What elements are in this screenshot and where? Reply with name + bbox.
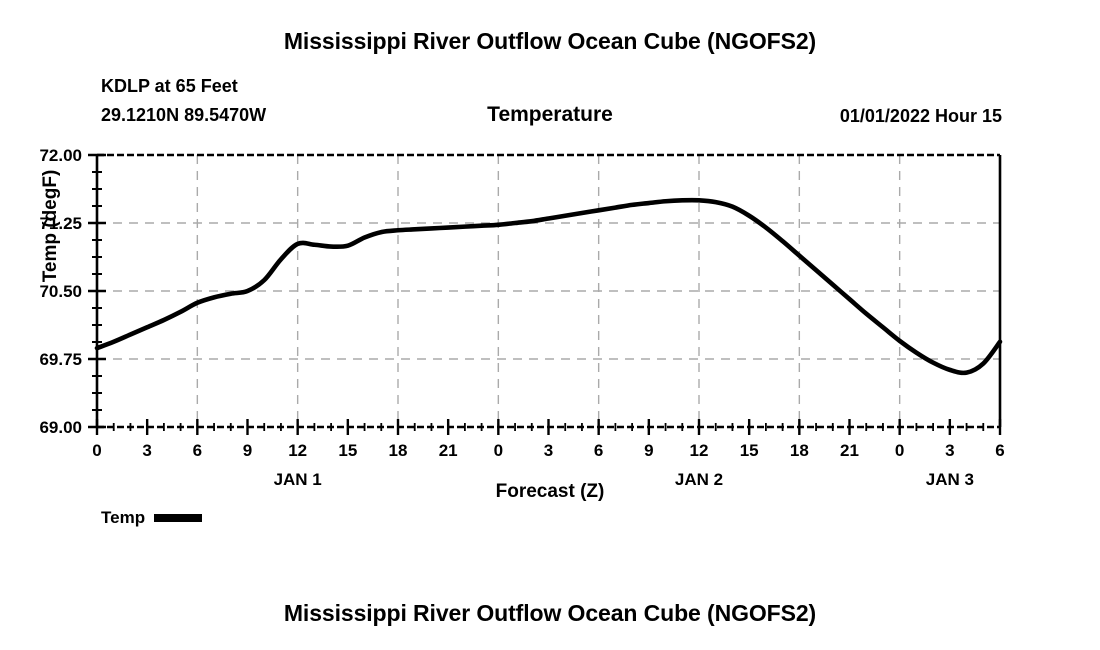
y-tick-label: 69.75 [39,350,82,369]
legend-label-temp: Temp [101,508,145,528]
x-tick-label: 0 [92,441,101,460]
series-line-temp [97,200,1000,373]
y-tick-label: 69.00 [39,418,82,437]
x-tick-label: 12 [690,441,709,460]
x-tick-label: 3 [142,441,151,460]
footer-title: Mississippi River Outflow Ocean Cube (NG… [0,600,1100,627]
x-tick-label: 9 [243,441,252,460]
x-tick-label: 3 [544,441,553,460]
x-tick-label: 0 [895,441,904,460]
legend-swatch-temp [154,514,202,522]
x-tick-label: 21 [439,441,458,460]
x-tick-label: 15 [338,441,357,460]
axis-tick-labels: 69.0069.7570.5071.2572.00036912151821036… [39,146,1004,460]
x-tick-label: 9 [644,441,653,460]
x-tick-label: 0 [494,441,503,460]
y-axis-label: Temp (degF) [40,131,62,321]
x-tick-label: 6 [193,441,202,460]
x-tick-label: 18 [790,441,809,460]
chart-canvas: 69.0069.7570.5071.2572.00036912151821036… [0,0,1100,650]
plot-area: 69.0069.7570.5071.2572.00036912151821036… [0,0,1100,650]
x-tick-label: 3 [945,441,954,460]
x-tick-label: 12 [288,441,307,460]
x-tick-label: 21 [840,441,859,460]
x-axis-label: Forecast (Z) [0,481,1100,503]
x-tick-label: 6 [995,441,1004,460]
chart-legend: Temp [101,508,202,528]
x-tick-label: 6 [594,441,603,460]
grid-lines [97,155,1000,427]
chart-page: Mississippi River Outflow Ocean Cube (NG… [0,0,1100,650]
data-series [97,200,1000,373]
x-tick-label: 18 [389,441,408,460]
x-tick-label: 15 [740,441,759,460]
